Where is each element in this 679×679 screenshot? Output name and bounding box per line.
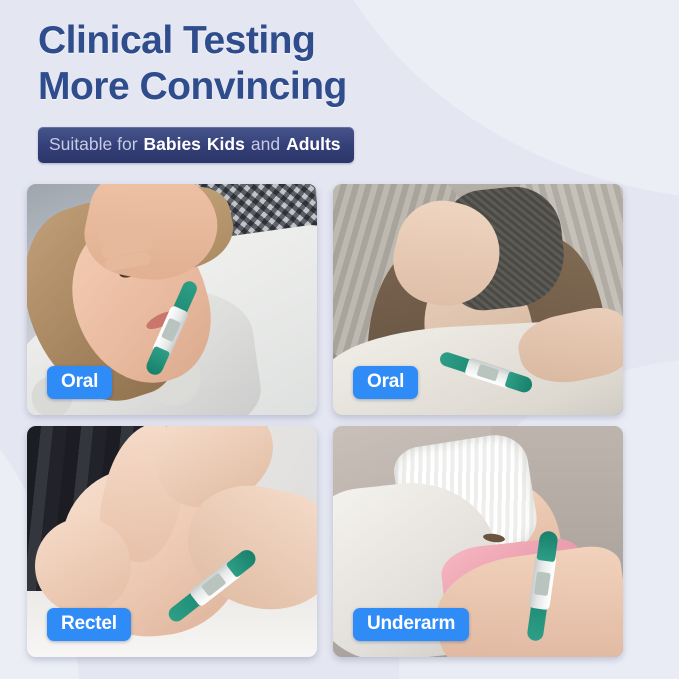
suitable-for-badge: Suitable for Babies Kids and Adults <box>38 127 354 163</box>
badge-word-babies: Babies <box>144 134 201 155</box>
usage-card-underarm: Underarm <box>333 426 623 657</box>
usage-photo-grid: Oral Oral <box>27 184 623 658</box>
badge-conjunction: and <box>251 134 280 155</box>
usage-tag-oral-adult: Oral <box>353 366 418 399</box>
title-line-2: More Convincing <box>38 64 638 110</box>
title-line-1: Clinical Testing <box>38 19 315 62</box>
header: Clinical Testing More Convincing Suitabl… <box>38 18 638 163</box>
usage-card-oral-adult: Oral <box>333 184 623 415</box>
usage-card-oral-child: Oral <box>27 184 317 415</box>
usage-tag-underarm: Underarm <box>353 608 469 641</box>
usage-card-rectal: Rectel <box>27 426 317 657</box>
badge-word-adults: Adults <box>286 134 340 155</box>
usage-tag-oral-child: Oral <box>47 366 112 399</box>
badge-prefix: Suitable for <box>49 134 138 155</box>
page-title: Clinical Testing More Convincing <box>38 18 638 110</box>
usage-tag-rectal: Rectel <box>47 608 131 641</box>
badge-word-kids: Kids <box>207 134 245 155</box>
